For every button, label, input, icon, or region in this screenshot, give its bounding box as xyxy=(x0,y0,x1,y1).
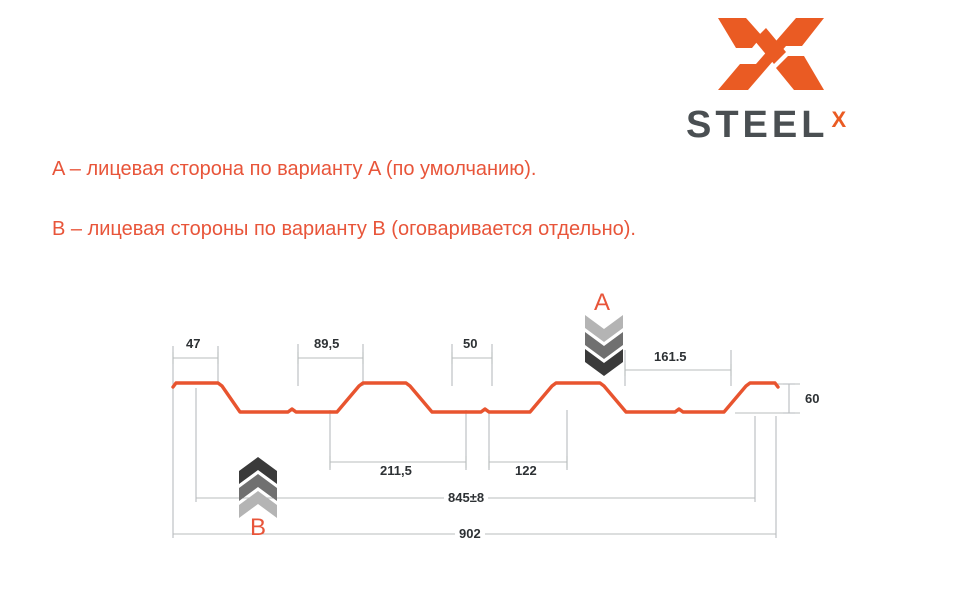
dim-89-5-label: 89,5 xyxy=(310,336,343,351)
dim-902-label: 902 xyxy=(455,526,485,541)
marker-a xyxy=(585,315,623,377)
x-mark-icon xyxy=(716,14,826,94)
logo-superscript: X xyxy=(831,107,846,133)
logo-text: STEEL xyxy=(686,106,828,144)
drawing-page: STEEL X A – лицевая сторона по варианту … xyxy=(0,0,970,597)
profile-drawing: A B 47 89,5 50 161.5 211,5 122 845±8 902… xyxy=(0,270,970,570)
marker-a-label: A xyxy=(594,291,610,315)
dim-161-5-label: 161.5 xyxy=(650,349,691,364)
marker-b-label: B xyxy=(250,516,266,540)
legend: A – лицевая сторона по варианту A (по ум… xyxy=(52,156,772,242)
legend-line-a: A – лицевая сторона по варианту A (по ум… xyxy=(52,156,772,182)
dim-122-label: 122 xyxy=(511,463,541,478)
steelx-logo: STEEL X xyxy=(686,14,886,144)
dim-60-label: 60 xyxy=(801,391,823,406)
drawing-canvas xyxy=(0,270,970,570)
legend-line-b: B – лицевая стороны по варианту B (огова… xyxy=(52,216,772,242)
dim-845-label: 845±8 xyxy=(444,490,488,505)
chevron-down-icon xyxy=(585,315,623,377)
dim-211-5-label: 211,5 xyxy=(376,463,416,478)
chevron-up-icon xyxy=(239,457,277,519)
dim-50-label: 50 xyxy=(459,336,481,351)
logo-wordmark: STEEL X xyxy=(686,106,886,148)
marker-b xyxy=(239,457,277,519)
profile-path xyxy=(173,383,778,412)
dim-47-label: 47 xyxy=(182,336,204,351)
